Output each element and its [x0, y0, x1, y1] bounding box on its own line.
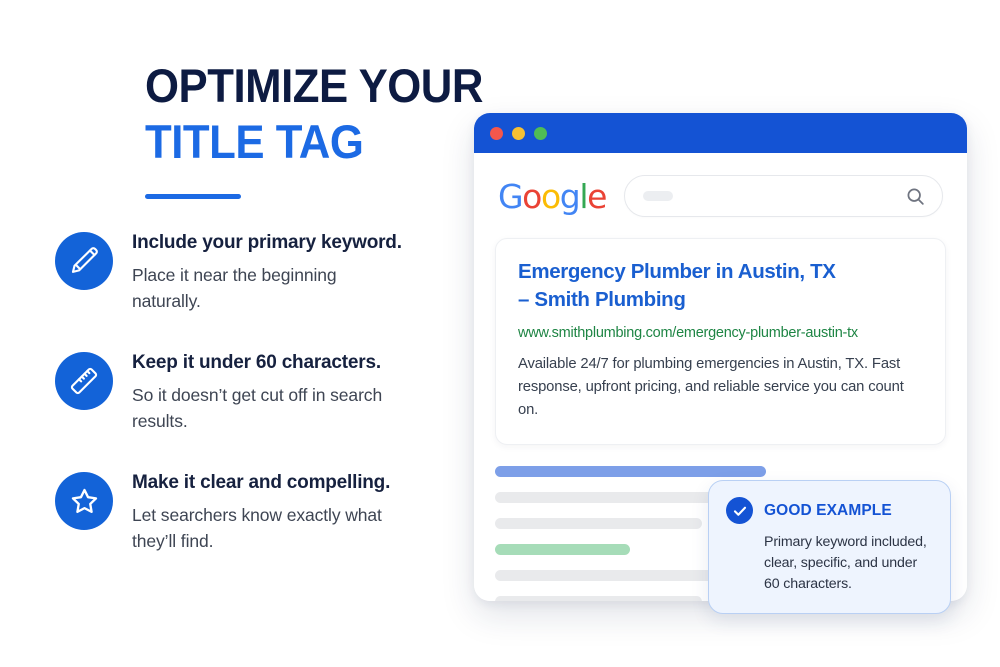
list-item-text: Make it clear and compelling. Let search…: [132, 468, 392, 554]
search-result-title[interactable]: Emergency Plumber in Austin, TX – Smith …: [518, 258, 923, 314]
list-item-body: So it doesn’t get cut off in search resu…: [132, 382, 392, 434]
search-placeholder-pill: [643, 191, 673, 201]
list-item-text: Keep it under 60 characters. So it doesn…: [132, 348, 392, 434]
list-item-title: Make it clear and compelling.: [132, 471, 392, 495]
tips-list: Include your primary keyword. Place it n…: [55, 228, 455, 588]
list-item-body: Place it near the beginning naturally.: [132, 262, 392, 314]
list-item: Keep it under 60 characters. So it doesn…: [55, 348, 455, 434]
good-example-callout: GOOD EXAMPLE Primary keyword included, c…: [708, 480, 951, 614]
maximize-dot-icon[interactable]: [534, 127, 547, 140]
logo-letter-e: e: [587, 177, 606, 216]
skeleton-bar-4: [495, 544, 630, 555]
list-item-title: Include your primary keyword.: [132, 231, 402, 255]
search-input[interactable]: [624, 175, 943, 217]
page-title: Optimize Your Title Tag: [145, 58, 465, 170]
infographic-canvas: Optimize Your Title Tag Include your pri…: [0, 0, 1000, 667]
ruler-icon: [55, 352, 113, 410]
search-result-title-line-1: Emergency Plumber in Austin, TX: [518, 260, 836, 283]
close-dot-icon[interactable]: [490, 127, 503, 140]
list-item-title: Keep it under 60 characters.: [132, 351, 392, 375]
left-content-column: Optimize Your Title Tag Include your pri…: [0, 0, 470, 667]
page-title-line-1: Optimize Your: [145, 58, 443, 114]
title-accent-rule: [145, 194, 241, 199]
pencil-icon: [55, 232, 113, 290]
minimize-dot-icon[interactable]: [512, 127, 525, 140]
skeleton-bar-6: [495, 596, 702, 601]
browser-window-mockup: Google Emergency Plumber in Austin, TX: [474, 113, 967, 601]
search-result-title-line-2: – Smith Plumbing: [518, 288, 686, 311]
callout-title: GOOD EXAMPLE: [764, 502, 892, 520]
search-result-description: Available 24/7 for plumbing emergencies …: [518, 353, 923, 422]
logo-letter-g2: g: [560, 177, 580, 216]
list-item-text: Include your primary keyword. Place it n…: [132, 228, 402, 314]
google-logo: Google: [498, 180, 606, 213]
check-circle-icon: [726, 497, 753, 524]
logo-letter-g1: G: [498, 177, 522, 216]
skeleton-bar-5: [495, 570, 721, 581]
list-item-body: Let searchers know exactly what they’ll …: [132, 502, 392, 554]
search-result-card[interactable]: Emergency Plumber in Austin, TX – Smith …: [495, 238, 946, 445]
logo-letter-o1: o: [522, 177, 541, 216]
search-result-url[interactable]: www.smithplumbing.com/emergency-plumber-…: [518, 323, 923, 343]
browser-titlebar: [474, 113, 967, 153]
callout-body: Primary keyword included, clear, specifi…: [726, 532, 933, 595]
skeleton-bar-1: [495, 466, 766, 477]
list-item: Include your primary keyword. Place it n…: [55, 228, 455, 314]
logo-letter-l: l: [579, 177, 587, 216]
star-icon: [55, 472, 113, 530]
skeleton-bar-3: [495, 518, 702, 529]
callout-header: GOOD EXAMPLE: [726, 497, 933, 524]
page-title-line-2: Title Tag: [145, 114, 443, 170]
search-row: Google: [474, 153, 967, 217]
search-icon[interactable]: [905, 186, 926, 207]
logo-letter-o2: o: [541, 177, 560, 216]
list-item: Make it clear and compelling. Let search…: [55, 468, 455, 554]
